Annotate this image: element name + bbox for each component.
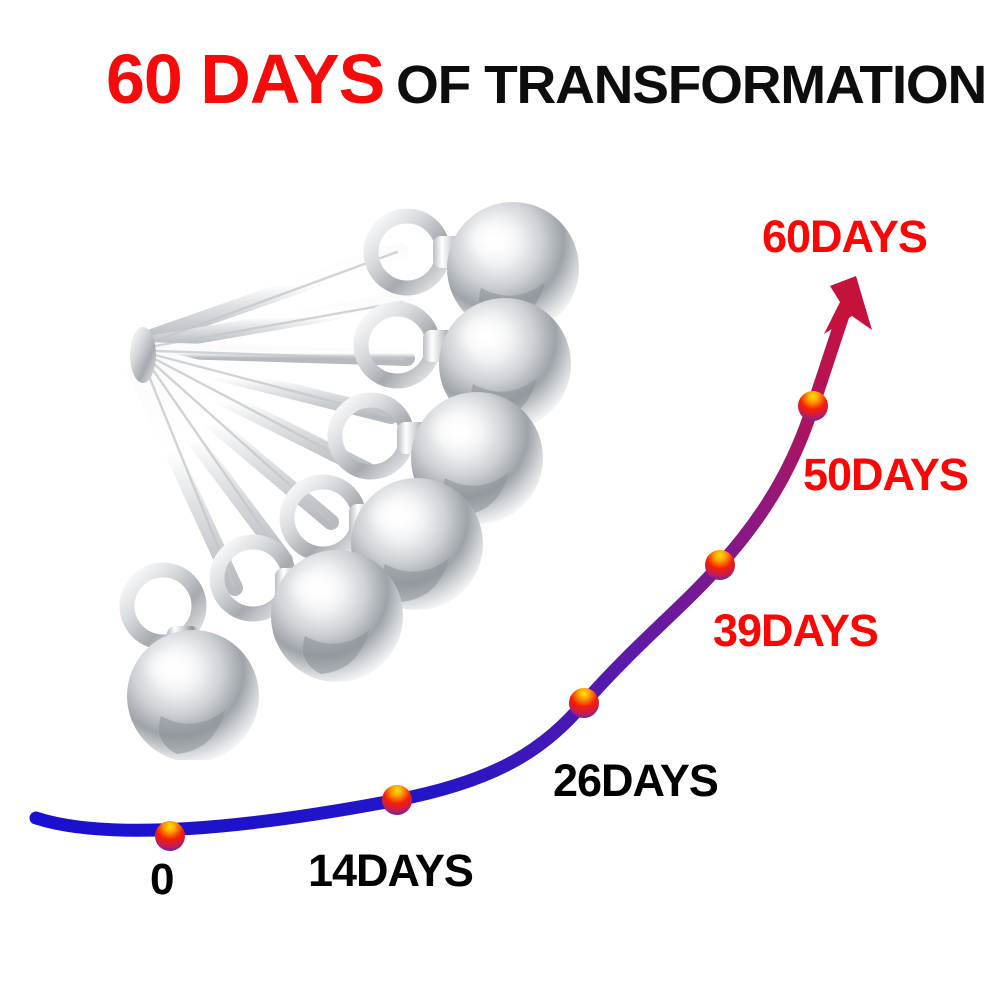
data-label-0: 0 <box>150 858 174 902</box>
poster-canvas: 60 DAYS OF TRANSFORMATION <box>0 0 1002 1002</box>
curve-arrowhead <box>824 276 872 334</box>
data-label-60days: 60DAYS <box>762 214 927 259</box>
data-label-26days: 26DAYS <box>553 758 718 803</box>
data-point-14 <box>382 785 412 815</box>
data-point-0 <box>155 821 185 851</box>
title-highlight-text: 60 DAYS <box>106 44 384 114</box>
data-point-39 <box>705 550 735 580</box>
title-subtext: OF TRANSFORMATION <box>396 58 986 112</box>
data-label-39days: 39DAYS <box>713 608 878 653</box>
data-label-14days: 14DAYS <box>308 848 473 893</box>
data-label-50days: 50DAYS <box>803 452 968 497</box>
product-ball-group <box>127 202 579 760</box>
data-point-50 <box>798 391 828 421</box>
page-title: 60 DAYS OF TRANSFORMATION <box>106 44 975 114</box>
product-photo <box>85 140 605 760</box>
